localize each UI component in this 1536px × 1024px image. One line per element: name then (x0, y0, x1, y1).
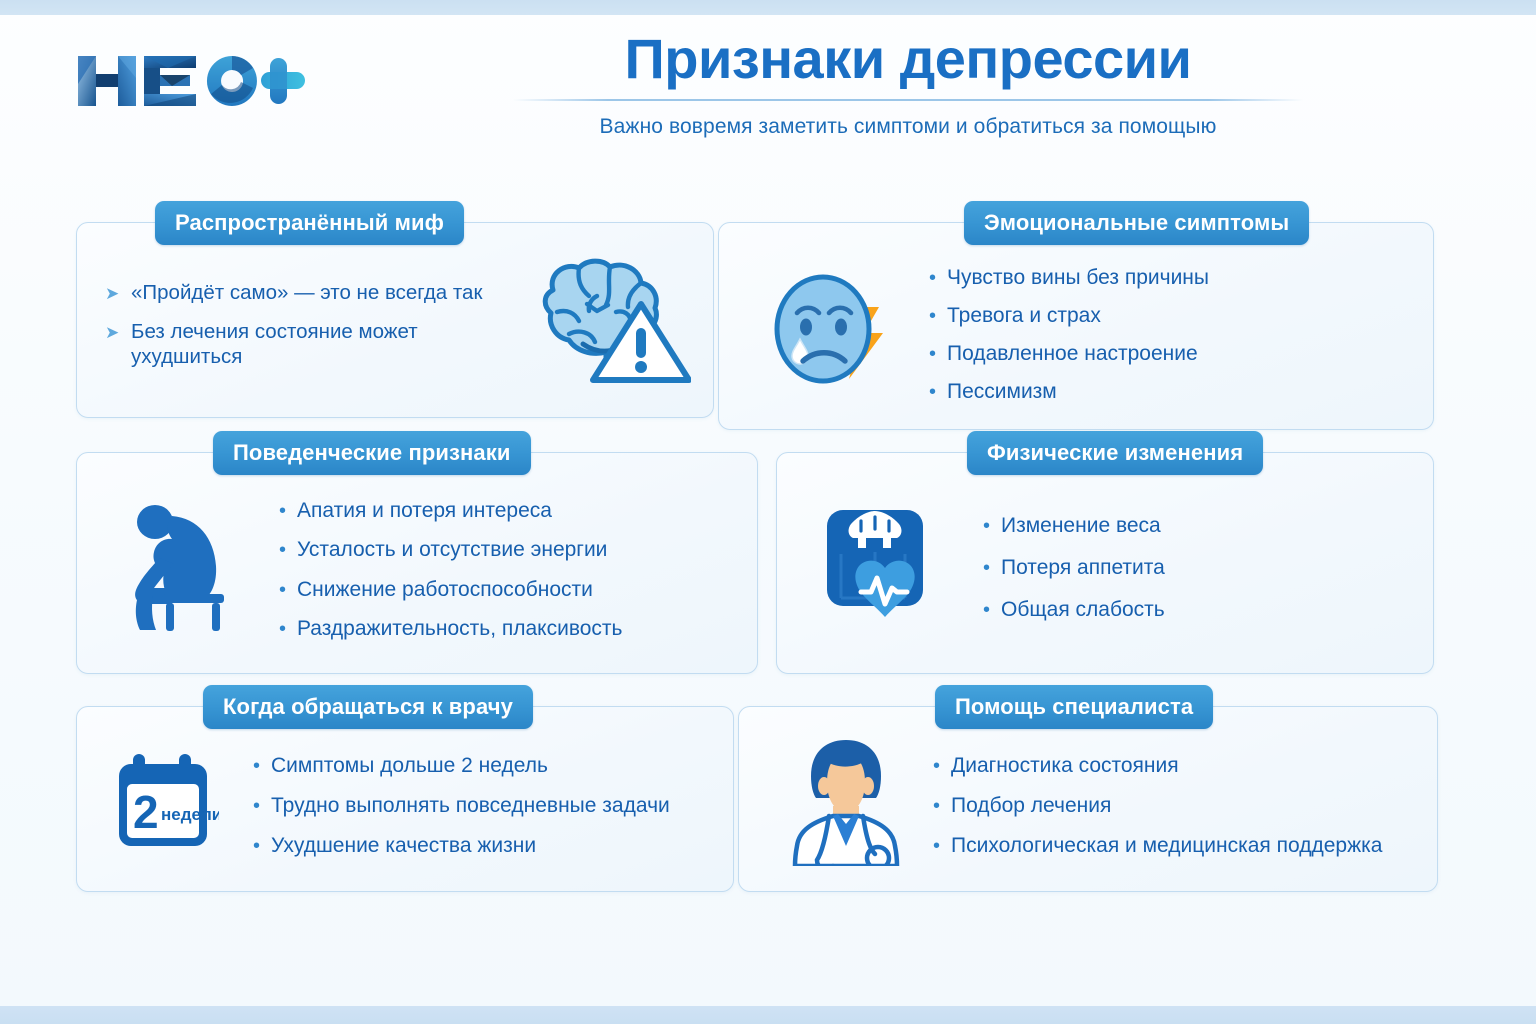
list-item: • Психологическая и медицинская поддержк… (933, 833, 1423, 859)
dot-bullet-icon: • (983, 556, 1001, 581)
list-item-text: Апатия и потеря интереса (297, 498, 741, 524)
list-item: • Общая слабость (983, 597, 1417, 623)
calendar-number: 2 (133, 786, 159, 838)
dot-bullet-icon: • (983, 598, 1001, 623)
arrow-bullet-icon: ➤ (105, 283, 131, 306)
list-item-text: Ухудшение качества жизни (271, 833, 717, 859)
list-item-text: Пессимизм (947, 379, 1415, 405)
dot-bullet-icon: • (253, 754, 271, 779)
list-item: • Подавленное настроение (929, 341, 1415, 367)
dot-bullet-icon: • (933, 794, 951, 819)
brain-warning-icon (513, 252, 691, 392)
list-item-text: Чувство вины без причины (947, 265, 1415, 291)
list-item: • Ухудшение качества жизни (253, 833, 717, 859)
list-item-text: Усталость и отсутствие энергии (297, 537, 741, 563)
card-physical: Физические изменения (776, 452, 1434, 674)
dot-bullet-icon: • (253, 834, 271, 859)
list-item-text: Общая слабость (1001, 597, 1417, 623)
list-item: • Усталость и отсутствие энергии (279, 537, 741, 563)
list-item-text: Изменение веса (1001, 513, 1417, 539)
list-item-text: Тревога и страх (947, 303, 1415, 329)
list-item-text: Раздражительность, плаксивость (297, 616, 741, 642)
list-item-text: Подбор лечения (951, 793, 1423, 819)
card-emotional-body: • Чувство вины без причины • Тревога и с… (719, 223, 1433, 429)
scale-heart-icon (821, 504, 947, 628)
list-item-text: «Пройдёт само» — это не всегда так (131, 280, 507, 306)
calendar-unit: недели (161, 805, 219, 824)
list-item-text: Психологическая и медицинская поддержка (951, 833, 1423, 859)
list-item: • Трудно выполнять повседневные задачи (253, 793, 717, 819)
dot-bullet-icon: • (929, 304, 947, 329)
list-item: • Апатия и потеря интереса (279, 498, 741, 524)
cards-grid: Распространённый миф ➤ «Пройдёт само» — … (0, 0, 1536, 1024)
list-item: • Чувство вины без причины (929, 265, 1415, 291)
card-physical-body: • Изменение веса • Потеря аппетита • Общ… (777, 453, 1433, 673)
list-item: • Диагностика состояния (933, 753, 1423, 779)
list-item-text: Снижение работоспособности (297, 577, 741, 603)
card-specialist-body: • Диагностика состояния • Подбор лечения… (739, 707, 1437, 891)
card-emotional-list: • Чувство вины без причины • Тревога и с… (895, 243, 1415, 418)
card-behavior-body: • Апатия и потеря интереса • Усталость и… (77, 453, 757, 673)
list-item-text: Подавленное настроение (947, 341, 1415, 367)
list-item: • Изменение веса (983, 513, 1417, 539)
card-myth-list: ➤ «Пройдёт само» — это не всегда так ➤ Б… (105, 261, 507, 383)
brain-warning-icon-slot (507, 252, 697, 392)
card-specialist-list: • Диагностика состояния • Подбор лечения… (911, 729, 1423, 874)
list-item: • Подбор лечения (933, 793, 1423, 819)
dot-bullet-icon: • (929, 266, 947, 291)
card-when-list: • Симптомы дольше 2 недель • Трудно выпо… (223, 729, 717, 874)
sad-face-icon-slot (769, 267, 895, 393)
card-myth-body: ➤ «Пройдёт само» — это не всегда так ➤ Б… (77, 223, 713, 417)
list-item-text: Диагностика состояния (951, 753, 1423, 779)
card-when: Когда обращаться к врачу 2 недели • (76, 706, 734, 892)
dot-bullet-icon: • (929, 380, 947, 405)
dot-bullet-icon: • (279, 538, 297, 563)
dot-bullet-icon: • (983, 514, 1001, 539)
list-item-text: Потеря аппетита (1001, 555, 1417, 581)
list-item-text: Симптомы дольше 2 недель (271, 753, 717, 779)
list-item: • Тревога и страх (929, 303, 1415, 329)
scale-heart-icon-slot (819, 504, 949, 628)
card-myth: Распространённый миф ➤ «Пройдёт само» — … (76, 222, 714, 418)
list-item: • Раздражительность, плаксивость (279, 616, 741, 642)
dot-bullet-icon: • (933, 834, 951, 859)
list-item: • Снижение работоспособности (279, 577, 741, 603)
list-item-text: Трудно выполнять повседневные задачи (271, 793, 717, 819)
infographic-page: Признаки депрессии Важно вовремя заметит… (0, 0, 1536, 1024)
list-item: • Симптомы дольше 2 недель (253, 753, 717, 779)
dot-bullet-icon: • (933, 754, 951, 779)
sitting-person-icon (128, 500, 240, 632)
card-behavior: Поведенческие признаки (76, 452, 758, 674)
card-physical-list: • Изменение веса • Потеря аппетита • Общ… (949, 493, 1417, 640)
list-item: • Пессимизм (929, 379, 1415, 405)
dot-bullet-icon: • (279, 499, 297, 524)
sitting-person-icon-slot (125, 500, 243, 632)
card-behavior-list: • Апатия и потеря интереса • Усталость и… (243, 477, 741, 655)
card-specialist: Помощь специалиста (738, 706, 1438, 892)
doctor-icon (783, 736, 909, 866)
doctor-icon-slot (781, 736, 911, 866)
calendar-icon: 2 недели (111, 748, 219, 854)
dot-bullet-icon: • (279, 617, 297, 642)
dot-bullet-icon: • (279, 578, 297, 603)
dot-bullet-icon: • (929, 342, 947, 367)
card-emotional: Эмоциональные симптомы (718, 222, 1434, 430)
list-item-text: Без лечения состояние может ухудшиться (131, 319, 507, 370)
calendar-icon-slot: 2 недели (107, 748, 223, 854)
list-item: ➤ Без лечения состояние может ухудшиться (105, 319, 507, 370)
list-item: ➤ «Пройдёт само» — это не всегда так (105, 280, 507, 306)
card-when-body: 2 недели • Симптомы дольше 2 недель • Тр… (77, 707, 733, 891)
dot-bullet-icon: • (253, 794, 271, 819)
list-item: • Потеря аппетита (983, 555, 1417, 581)
arrow-bullet-icon: ➤ (105, 322, 131, 345)
sad-face-lightning-icon (771, 267, 893, 393)
